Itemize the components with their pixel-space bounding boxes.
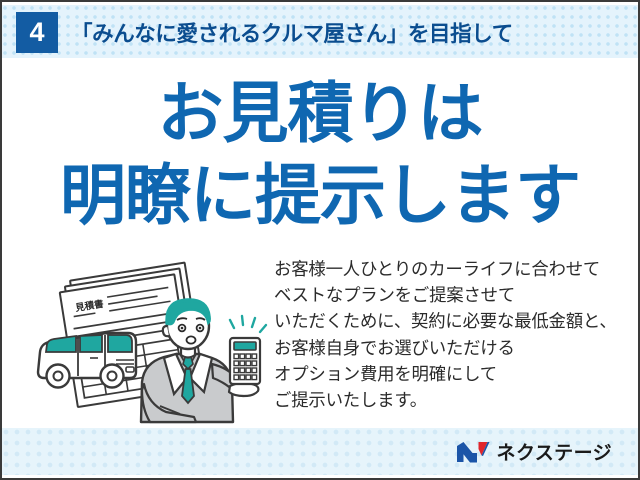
sparkle-icon [230, 316, 266, 332]
footer-band: ネクステージ [2, 428, 638, 475]
calculator-icon [230, 338, 260, 384]
description-line: ご提示いたします。 [274, 387, 636, 413]
description-line: オプション費用を明確にして [274, 361, 636, 387]
brand-logo: ネクステージ [456, 438, 612, 465]
headline-line-1: お見積りは [2, 80, 638, 146]
step-number-badge: 4 [16, 12, 58, 53]
headline-line-2: 明瞭に提示します [2, 162, 638, 228]
header-band: 4 「みんなに愛されるクルマ屋さん」を目指して [2, 5, 638, 60]
nexstage-n-logo-icon [456, 441, 490, 463]
description-paragraph: お客様一人ひとりのカーライフに合わせて ベストなプランをご提案させて いただくた… [274, 256, 636, 413]
estimate-salesman-van-illustration: 見積書 [24, 254, 274, 426]
body-row: 見積書 [2, 250, 638, 428]
advertisement-panel: 4 「みんなに愛されるクルマ屋さん」を目指して お見積りは 明瞭に提示します 見… [0, 0, 640, 480]
headline-block: お見積りは 明瞭に提示します [2, 80, 638, 228]
description-line: ベストなプランをご提案させて [274, 282, 636, 308]
description-line: いただくために、契約に必要な最低金額と、 [274, 308, 636, 334]
header-title: 「みんなに愛されるクルマ屋さん」を目指して [71, 17, 513, 48]
description-line: お客様自身でお選びいただける [274, 335, 636, 361]
brand-name: ネクステージ [497, 438, 612, 465]
description-line: お客様一人ひとりのカーライフに合わせて [274, 256, 636, 282]
